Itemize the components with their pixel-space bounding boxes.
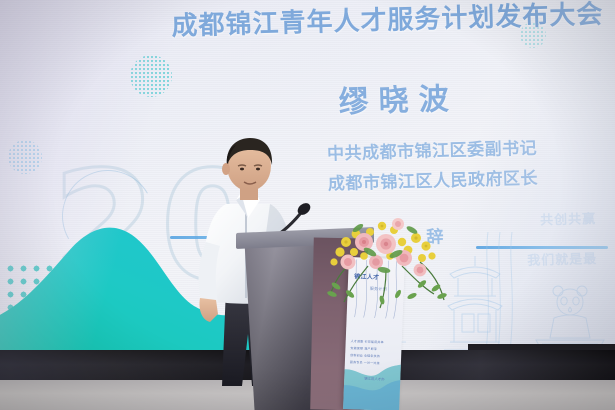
speaker-name: 缪晓波 [298, 73, 499, 123]
banner-body-line: 安居保障 落户即享 [350, 346, 377, 352]
event-title: 成都锦江青年人才服务计划发布大会 [171, 0, 572, 43]
banner-stamp: 锦江区人才办 [364, 376, 385, 382]
speaker-role-line-2: 成都市锦江区人民政府区长 [273, 162, 594, 196]
flower-bouquet-icon [324, 208, 450, 310]
conference-stage-photo: 20 [0, 0, 615, 410]
ghost-text-top: 共创共赢 [540, 208, 597, 229]
speaker-role-line-1: 中共成都市锦江区委副书记 [272, 132, 593, 166]
ghost-text-bottom: 我们就是最 [527, 248, 598, 269]
